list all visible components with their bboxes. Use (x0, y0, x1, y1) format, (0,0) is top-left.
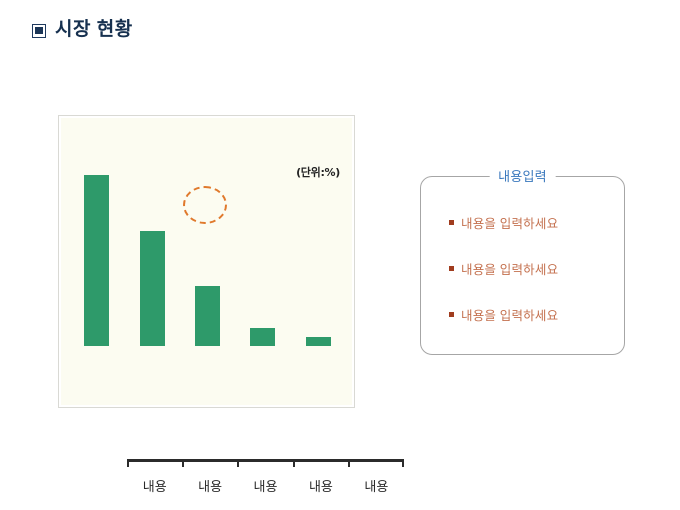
axis-label-2: 내용 (238, 476, 293, 495)
axis-tick (348, 461, 350, 467)
bar-cell (69, 146, 124, 346)
bar-1[interactable] (140, 231, 165, 346)
bar-3[interactable] (250, 328, 275, 346)
list-item[interactable]: 내용을 입력하세요 (449, 213, 624, 232)
content-input-panel: 내용입력 내용을 입력하세요 내용을 입력하세요 내용을 입력하세요 (420, 176, 625, 355)
square-bullet-icon (449, 266, 454, 271)
axis-label-0: 내용 (127, 476, 182, 495)
axis-tick (182, 461, 184, 467)
dashed-ellipse-annotation-icon (183, 186, 227, 224)
list-item-label: 내용을 입력하세요 (461, 259, 558, 278)
list-item[interactable]: 내용을 입력하세요 (449, 305, 624, 324)
axis-tick (237, 461, 239, 467)
axis-label-3: 내용 (293, 476, 348, 495)
x-axis-ticks (127, 461, 404, 467)
page-title-label: 시장 현황 (55, 20, 133, 39)
page-title: 시장 현황 (32, 20, 133, 39)
bar-series (69, 146, 346, 346)
axis-tick (402, 461, 404, 467)
bar-2[interactable] (195, 286, 220, 346)
axis-tick (127, 461, 129, 467)
list-item-label: 내용을 입력하세요 (461, 305, 558, 324)
axis-label-4: 내용 (349, 476, 404, 495)
square-in-square-icon (32, 24, 46, 38)
content-list: 내용을 입력하세요 내용을 입력하세요 내용을 입력하세요 (421, 177, 624, 324)
bar-cell (124, 146, 179, 346)
chart-panel: (단위:%) 내용 내 (58, 115, 355, 408)
bar-cell (235, 146, 290, 346)
bar-4[interactable] (306, 337, 331, 346)
list-item-label: 내용을 입력하세요 (461, 213, 558, 232)
axis-tick (293, 461, 295, 467)
x-axis-labels: 내용 내용 내용 내용 내용 (127, 476, 404, 495)
bar-cell (180, 146, 235, 346)
list-item[interactable]: 내용을 입력하세요 (449, 259, 624, 278)
bar-0[interactable] (84, 175, 109, 346)
axis-label-1: 내용 (182, 476, 237, 495)
bar-cell (291, 146, 346, 346)
chart-plot-area (69, 146, 346, 346)
square-bullet-icon (449, 312, 454, 317)
square-bullet-icon (449, 220, 454, 225)
content-panel-legend-title: 내용입력 (489, 166, 556, 185)
